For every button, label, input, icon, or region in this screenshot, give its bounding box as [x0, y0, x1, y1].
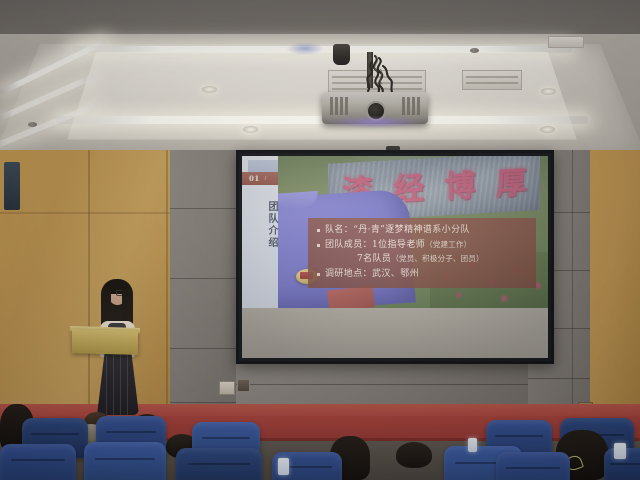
ceiling-vent	[462, 70, 522, 90]
auditorium-seat	[176, 448, 262, 480]
auditorium-seat	[84, 442, 166, 480]
downlight	[540, 126, 555, 133]
audience-head	[396, 442, 432, 468]
wall-plate	[219, 381, 235, 395]
slide-bullet-subtext: （党建工作）	[425, 240, 471, 249]
slide-bullet-text: 团队成员：1位指导老师	[325, 240, 425, 251]
audience-phone-screen	[278, 458, 289, 475]
bullet-dot-icon	[317, 244, 320, 247]
wall-plate	[237, 379, 250, 392]
slide-bullet-item: 7名队员 （党员、积极分子、团员）	[357, 254, 528, 265]
slide-sidebar: 01 / 团队介绍	[242, 156, 278, 308]
slide-title-char-3: 博	[445, 170, 477, 203]
slide-section-slash: /	[265, 176, 267, 182]
projector-glow	[326, 116, 424, 128]
slide-bullet-item: 调研地点：武汉、鄂州	[317, 269, 528, 280]
podium	[72, 329, 138, 355]
auditorium-seat	[496, 452, 570, 480]
downlight	[243, 126, 258, 133]
ceiling	[0, 0, 640, 152]
bullet-dot-icon	[317, 273, 320, 276]
slide-section-label: 团队介绍	[242, 190, 278, 260]
ceiling-vent	[548, 36, 584, 48]
presenter-skirt	[97, 353, 139, 415]
audience-phone-screen	[468, 438, 477, 452]
slide-sidebar-number-band: 01 /	[242, 172, 278, 185]
screen-surface: 漆 经 博 厚 01 /	[242, 156, 548, 358]
slide-bullet-panel: 队名：“丹·青”逐梦精神谱系小分队 团队成员：1位指导老师 （党建工作） 7名队…	[308, 218, 536, 288]
slide-bullet-subtext: （党员、积极分子、团员）	[391, 254, 483, 263]
wall-panel-grey-left	[170, 150, 240, 440]
ceiling-projector	[320, 52, 430, 137]
bullet-dot-icon	[317, 229, 320, 232]
downlight	[202, 86, 217, 93]
audience-phone-screen	[614, 443, 626, 459]
slide-bullet-item: 团队成员：1位指导老师 （党建工作）	[317, 240, 528, 251]
slide-bullet-text: 调研地点：武汉、鄂州	[325, 269, 419, 280]
projected-slide: 漆 经 博 厚 01 /	[242, 156, 548, 308]
slide-bullet-item: 队名：“丹·青”逐梦精神谱系小分队	[317, 225, 528, 236]
smoke-detector-icon	[470, 48, 479, 53]
slide-bullet-text: 队名：“丹·青”逐梦精神谱系小分队	[325, 225, 470, 236]
auditorium-seat	[0, 444, 76, 480]
auditorium-scene: 漆 经 博 厚 01 /	[0, 0, 640, 480]
projection-screen: 漆 经 博 厚 01 /	[236, 150, 554, 364]
slide-title-char-4: 厚	[496, 168, 528, 201]
wall-speaker	[4, 162, 20, 210]
screen-letterbox-band	[242, 308, 548, 358]
downlight	[541, 88, 556, 95]
shirt-collar	[274, 191, 319, 210]
slide-sidebar-accent	[248, 160, 278, 172]
ceiling-reflection	[286, 42, 324, 55]
smoke-detector-icon	[28, 122, 37, 127]
slide-bullet-text: 7名队员	[357, 254, 391, 265]
slide-section-number: 01	[249, 174, 260, 183]
